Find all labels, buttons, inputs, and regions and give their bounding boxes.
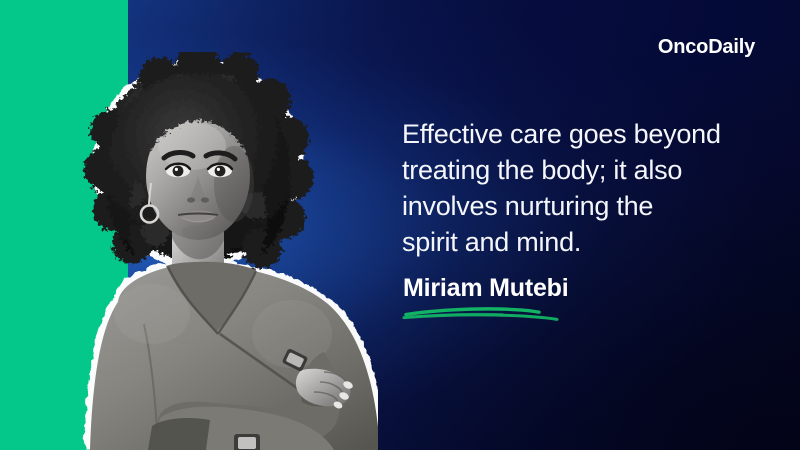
underline-scribble-icon	[399, 303, 579, 327]
quote-card: OncoDaily Effective care goes beyond tre…	[0, 0, 800, 450]
quote-line-4: spirit and mind.	[402, 224, 754, 260]
quote-line-2: treating the body; it also	[402, 152, 754, 188]
quote-line-1: Effective care goes beyond	[402, 116, 754, 152]
portrait-image	[48, 52, 378, 450]
author-name: Miriam Mutebi	[403, 273, 755, 303]
quote-line-3: involves nurturing the	[402, 188, 754, 224]
quote-text: Effective care goes beyond treating the …	[402, 116, 754, 260]
attribution: Miriam Mutebi	[403, 273, 755, 303]
oncodaily-logo[interactable]: OncoDaily	[658, 37, 755, 57]
